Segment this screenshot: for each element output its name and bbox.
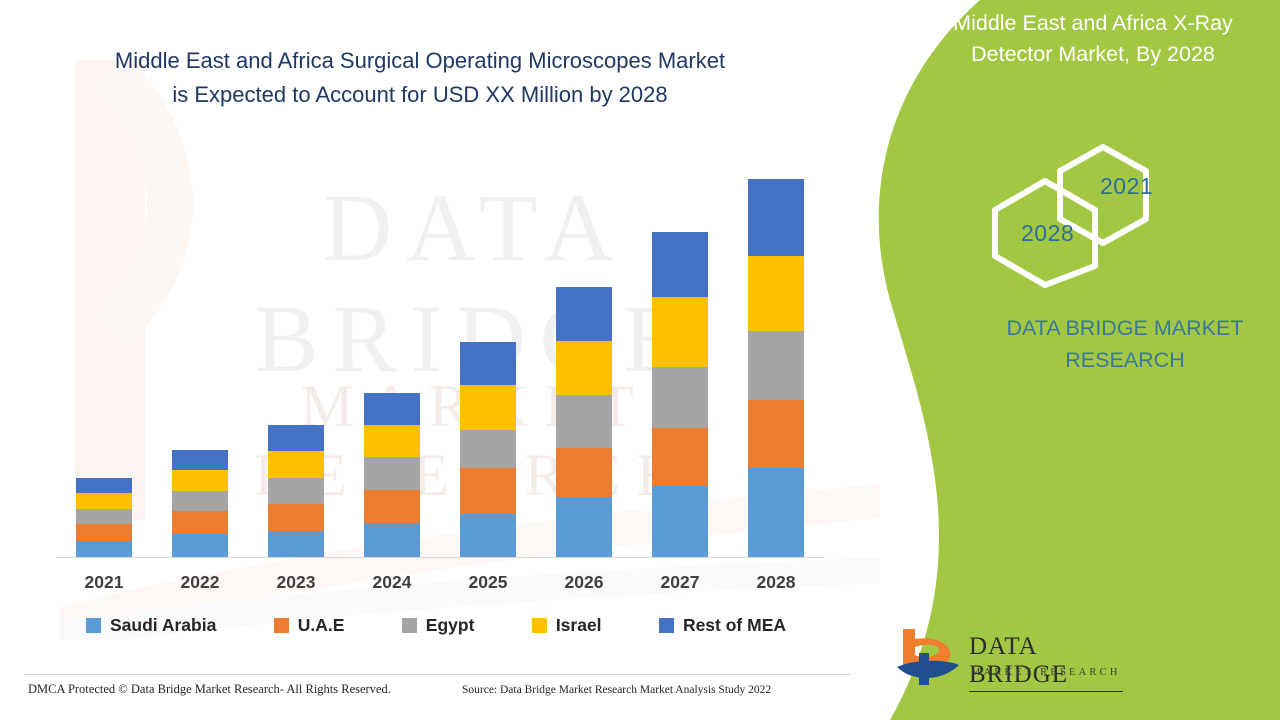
hexagon-label-2021: 2021	[1100, 173, 1153, 200]
legend-swatch-icon	[86, 618, 101, 633]
footer-copyright: DMCA Protected © Data Bridge Market Rese…	[28, 682, 391, 697]
legend-item-u-a-e[interactable]: U.A.E	[274, 615, 345, 636]
legend-label: Rest of MEA	[683, 615, 786, 636]
bar-segment[interactable]	[748, 468, 804, 557]
bar-segment[interactable]	[268, 425, 324, 451]
x-axis-label-2022: 2022	[172, 572, 228, 596]
bar-segment[interactable]	[556, 287, 612, 341]
bar-segment[interactable]	[76, 509, 132, 524]
panel-brand-line-1: DATA BRIDGE MARKET	[960, 312, 1280, 344]
x-axis-label-2027: 2027	[652, 572, 708, 596]
bar-segment[interactable]	[76, 524, 132, 540]
chart-title: Middle East and Africa Surgical Operatin…	[40, 44, 800, 112]
chart-plot-area	[56, 150, 824, 558]
bar-segment[interactable]	[460, 468, 516, 514]
logo-mark-icon	[893, 625, 965, 689]
stacked-bar-2025[interactable]	[460, 342, 516, 557]
legend-swatch-icon	[532, 618, 547, 633]
x-axis-label-2025: 2025	[460, 572, 516, 596]
x-axis-label-2023: 2023	[268, 572, 324, 596]
chart-legend: Saudi ArabiaU.A.EEgyptIsraelRest of MEA	[86, 615, 786, 636]
chart-title-line-1: Middle East and Africa Surgical Operatin…	[40, 44, 800, 78]
bar-segment[interactable]	[364, 523, 420, 557]
bar-segment[interactable]	[364, 457, 420, 490]
bar-segment[interactable]	[652, 297, 708, 367]
x-axis-label-2021: 2021	[76, 572, 132, 596]
bar-segment[interactable]	[652, 486, 708, 557]
bar-segment[interactable]	[172, 450, 228, 469]
bar-segment[interactable]	[76, 541, 132, 557]
bar-segment[interactable]	[460, 342, 516, 385]
bar-segment[interactable]	[460, 514, 516, 557]
bar-segment[interactable]	[268, 504, 324, 530]
bar-segment[interactable]	[748, 256, 804, 331]
panel-title: Middle East and Africa X-Ray Detector Ma…	[928, 8, 1258, 70]
legend-label: Egypt	[426, 615, 475, 636]
panel-title-line-2: Detector Market, By 2028	[928, 39, 1258, 70]
x-axis-label-2028: 2028	[748, 572, 804, 596]
logo-tagline: MARKET RESEARCH	[971, 667, 1121, 678]
panel-title-line-1: Middle East and Africa X-Ray	[928, 8, 1258, 39]
hexagon-badges	[983, 143, 1173, 288]
bar-segment[interactable]	[172, 534, 228, 557]
stacked-bar-2022[interactable]	[172, 450, 228, 557]
legend-label: Israel	[556, 615, 602, 636]
poster-canvas: DATA BRIDGE MARKET RESEARCH Middle East …	[0, 0, 1280, 720]
legend-item-rest-of-mea[interactable]: Rest of MEA	[659, 615, 786, 636]
bar-segment[interactable]	[652, 367, 708, 428]
bar-segment[interactable]	[652, 428, 708, 486]
x-axis-label-2024: 2024	[364, 572, 420, 596]
chart-title-line-2: is Expected to Account for USD XX Millio…	[40, 78, 800, 112]
bar-segment[interactable]	[556, 448, 612, 497]
legend-swatch-icon	[659, 618, 674, 633]
stacked-bar-2024[interactable]	[364, 393, 420, 557]
legend-item-egypt[interactable]: Egypt	[402, 615, 475, 636]
company-logo: DATA BRIDGE MARKET RESEARCH	[893, 623, 1123, 693]
legend-label: Saudi Arabia	[110, 615, 216, 636]
stacked-bar-group	[56, 150, 824, 557]
bar-segment[interactable]	[364, 425, 420, 458]
stacked-bar-2026[interactable]	[556, 287, 612, 557]
panel-brand-line-2: RESEARCH	[960, 344, 1280, 376]
stacked-bar-2023[interactable]	[268, 425, 324, 557]
bar-segment[interactable]	[172, 511, 228, 533]
bar-segment[interactable]	[748, 400, 804, 468]
bar-segment[interactable]	[172, 491, 228, 511]
bar-segment[interactable]	[460, 430, 516, 469]
stacked-bar-2027[interactable]	[652, 232, 708, 557]
legend-swatch-icon	[274, 618, 289, 633]
bar-segment[interactable]	[76, 478, 132, 493]
bar-segment[interactable]	[652, 232, 708, 296]
footer-divider	[24, 674, 850, 675]
bar-segment[interactable]	[268, 531, 324, 557]
legend-item-israel[interactable]: Israel	[532, 615, 602, 636]
bar-segment[interactable]	[556, 395, 612, 448]
legend-swatch-icon	[402, 618, 417, 633]
hexagon-label-2028: 2028	[1021, 220, 1074, 247]
bar-segment[interactable]	[460, 385, 516, 430]
bar-segment[interactable]	[172, 470, 228, 491]
x-axis-label-2026: 2026	[556, 572, 612, 596]
panel-brand-text: DATA BRIDGE MARKET RESEARCH	[960, 312, 1280, 376]
bar-segment[interactable]	[748, 179, 804, 256]
logo-wordmark: DATA BRIDGE	[969, 633, 1123, 692]
bar-segment[interactable]	[556, 341, 612, 395]
x-axis-line	[56, 557, 824, 558]
stacked-bar-2028[interactable]	[748, 179, 804, 557]
bar-segment[interactable]	[748, 331, 804, 400]
bar-segment[interactable]	[268, 451, 324, 477]
bar-segment[interactable]	[556, 497, 612, 557]
bar-segment[interactable]	[76, 493, 132, 509]
bar-segment[interactable]	[364, 393, 420, 425]
bar-segment[interactable]	[364, 490, 420, 524]
stacked-bar-2021[interactable]	[76, 478, 132, 557]
legend-label: U.A.E	[298, 615, 345, 636]
legend-item-saudi-arabia[interactable]: Saudi Arabia	[86, 615, 216, 636]
footer-source: Source: Data Bridge Market Research Mark…	[462, 684, 771, 696]
bar-segment[interactable]	[268, 478, 324, 504]
x-axis-labels: 20212022202320242025202620272028	[56, 572, 824, 596]
